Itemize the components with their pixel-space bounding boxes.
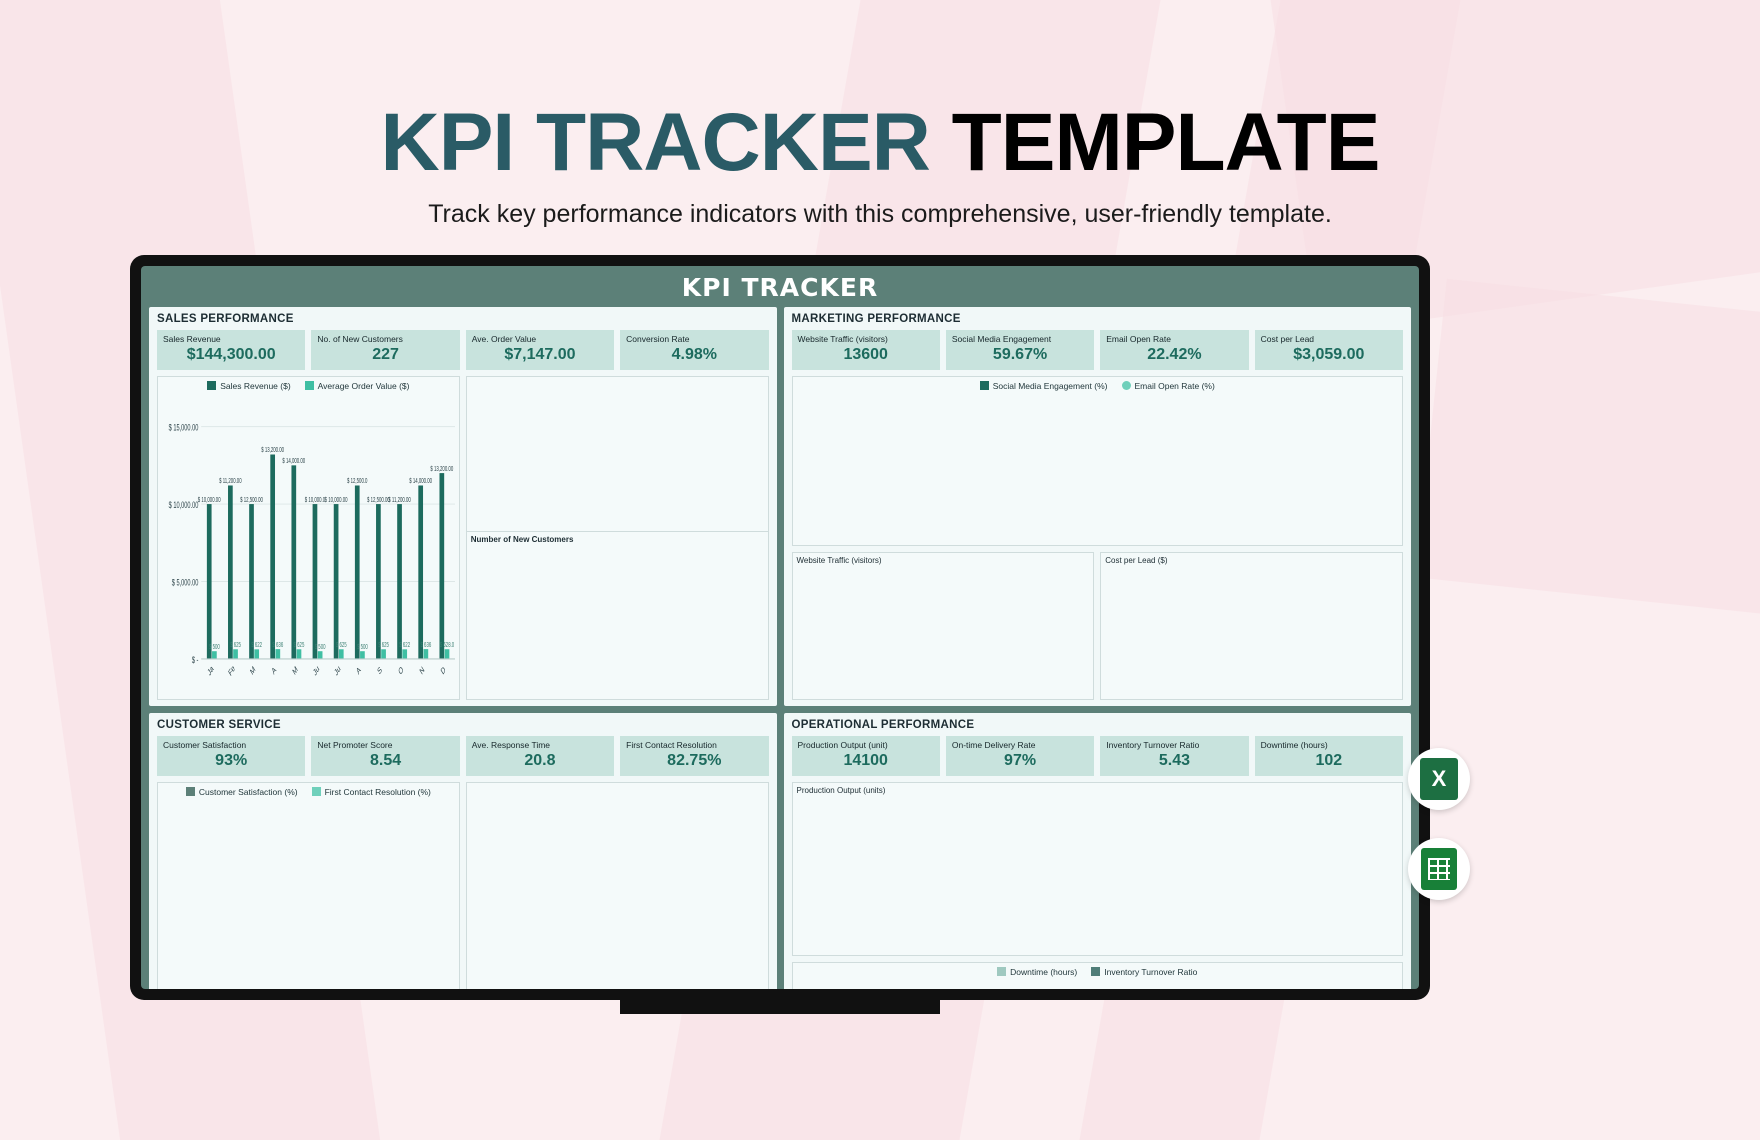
chart-title-new-customers: Number of New Customers xyxy=(467,531,768,544)
svg-text:$ 12,500.0: $ 12,500.0 xyxy=(347,478,368,485)
kpi-label: Production Output (unit) xyxy=(798,740,934,750)
chart-production-output[interactable]: Production Output (units) xyxy=(792,782,1404,956)
kpi-card-first-contact-resolution[interactable]: First Contact Resolution 82.75% xyxy=(620,736,768,776)
kpi-card-sales-revenue[interactable]: Sales Revenue $144,300.00 xyxy=(157,330,305,370)
kpi-label: Ave. Order Value xyxy=(472,334,608,344)
kpi-row-marketing: Website Traffic (visitors) 13600 Social … xyxy=(792,330,1404,370)
svg-text:A: A xyxy=(270,664,278,677)
svg-text:M: M xyxy=(291,664,299,677)
panel-title-operational: OPERATIONAL PERFORMANCE xyxy=(792,719,1404,731)
chart-canvas-new-customers xyxy=(467,544,768,698)
kpi-label: On-time Delivery Rate xyxy=(952,740,1088,750)
svg-text:$ 622: $ 622 xyxy=(251,642,262,649)
svg-text:Ja: Ja xyxy=(206,663,215,678)
legend-label: Downtime (hours) xyxy=(1010,967,1077,977)
panel-customer-service: CUSTOMER SERVICE Customer Satisfaction 9… xyxy=(149,713,777,989)
kpi-label: Net Promoter Score xyxy=(317,740,453,750)
panel-title-marketing: MARKETING PERFORMANCE xyxy=(792,313,1404,325)
charts-customer: Customer Satisfaction (%) First Contact … xyxy=(157,782,769,989)
legend-item-email: Email Open Rate (%) xyxy=(1122,381,1215,391)
kpi-label: Customer Satisfaction xyxy=(163,740,299,750)
chart-canvas xyxy=(158,799,459,989)
excel-badge[interactable]: X xyxy=(1408,748,1470,810)
svg-text:Ju: Ju xyxy=(333,663,342,678)
legend-label: Email Open Rate (%) xyxy=(1135,381,1215,391)
page-title-rest: TEMPLATE xyxy=(952,97,1380,188)
kpi-label: No. of New Customers xyxy=(317,334,453,344)
kpi-label: Sales Revenue xyxy=(163,334,299,344)
chart-conversion-donut[interactable]: Number of New Customers xyxy=(466,376,769,700)
svg-text:Fe: Fe xyxy=(227,663,236,678)
monitor-stand xyxy=(620,1000,940,1014)
svg-text:$ 13,200.00: $ 13,200.00 xyxy=(430,466,453,473)
kpi-card-new-customers[interactable]: No. of New Customers 227 xyxy=(311,330,459,370)
svg-text:O: O xyxy=(397,664,405,677)
kpi-label: Downtime (hours) xyxy=(1261,740,1397,750)
legend-item-fcr: First Contact Resolution (%) xyxy=(312,787,431,797)
chart-canvas: $ -$ 5,000.00$ 10,000.00$ 15,000.00$ 10,… xyxy=(158,393,459,699)
svg-text:$ 10,000.00: $ 10,000.00 xyxy=(169,499,199,510)
legend-swatch-icon xyxy=(1091,967,1100,976)
chart-canvas xyxy=(467,783,768,989)
kpi-row-customer: Customer Satisfaction 93% Net Promoter S… xyxy=(157,736,769,776)
svg-text:$ 10,000.0: $ 10,000.0 xyxy=(305,497,326,504)
svg-text:$ 625: $ 625 xyxy=(378,642,389,649)
svg-text:M: M xyxy=(249,664,257,677)
chart-sales-revenue-aov[interactable]: Sales Revenue ($) Average Order Value ($… xyxy=(157,376,460,700)
chart-title-production: Production Output (units) xyxy=(793,783,1403,795)
kpi-card-downtime[interactable]: Downtime (hours) 102 xyxy=(1255,736,1403,776)
kpi-value: 14100 xyxy=(798,752,934,770)
kpi-value: $7,147.00 xyxy=(472,346,608,364)
chart-canvas xyxy=(793,979,1403,989)
svg-text:$ 622: $ 622 xyxy=(399,642,410,649)
kpi-value: 20.8 xyxy=(472,752,608,770)
svg-text:$ 10,000.00: $ 10,000.00 xyxy=(325,497,348,504)
kpi-card-conversion-rate[interactable]: Conversion Rate 4.98% xyxy=(620,330,768,370)
svg-text:$ 636: $ 636 xyxy=(420,642,431,649)
svg-text:$ 14,000.00: $ 14,000.00 xyxy=(409,478,432,485)
dashboard-title: KPI TRACKER xyxy=(149,272,1411,307)
kpi-card-website-traffic[interactable]: Website Traffic (visitors) 13600 xyxy=(792,330,940,370)
chart-downtime-inventory[interactable]: Downtime (hours) Inventory Turnover Rati… xyxy=(792,962,1404,989)
svg-text:$ 500: $ 500 xyxy=(357,644,368,651)
svg-text:$ 12,500.00: $ 12,500.00 xyxy=(367,497,390,504)
svg-text:$ 11,200.00: $ 11,200.00 xyxy=(219,478,242,485)
legend-item-inventory: Inventory Turnover Ratio xyxy=(1091,967,1197,977)
svg-text:$ -: $ - xyxy=(192,654,199,665)
chart-canvas xyxy=(467,377,768,531)
panel-marketing-performance: MARKETING PERFORMANCE Website Traffic (v… xyxy=(784,307,1412,706)
dashboard-screen: KPI TRACKER SALES PERFORMANCE Sales Reve… xyxy=(141,266,1419,989)
charts-sales: Sales Revenue ($) Average Order Value ($… xyxy=(157,376,769,700)
chart-social-email-line[interactable]: Social Media Engagement (%) Email Open R… xyxy=(792,376,1404,546)
chart-canvas xyxy=(793,393,1403,545)
kpi-card-cost-per-lead[interactable]: Cost per Lead $3,059.00 xyxy=(1255,330,1403,370)
kpi-label: Email Open Rate xyxy=(1106,334,1242,344)
kpi-label: First Contact Resolution xyxy=(626,740,762,750)
page-subtitle: Track key performance indicators with th… xyxy=(0,200,1760,229)
chart-title-cost-per-lead: Cost per Lead ($) xyxy=(1101,553,1402,565)
svg-text:N: N xyxy=(418,664,426,676)
kpi-card-avg-response-time[interactable]: Ave. Response Time 20.8 xyxy=(466,736,614,776)
kpi-label: Cost per Lead xyxy=(1261,334,1397,344)
kpi-value: 102 xyxy=(1261,752,1397,770)
kpi-card-email-open-rate[interactable]: Email Open Rate 22.42% xyxy=(1100,330,1248,370)
kpi-label: Ave. Response Time xyxy=(472,740,608,750)
chart-canvas xyxy=(793,795,1403,955)
kpi-label: Social Media Engagement xyxy=(952,334,1088,344)
kpi-row-operational: Production Output (unit) 14100 On-time D… xyxy=(792,736,1404,776)
google-sheets-badge[interactable] xyxy=(1408,838,1470,900)
svg-text:$ 5,000.00: $ 5,000.00 xyxy=(172,577,199,588)
svg-text:$ 500: $ 500 xyxy=(315,644,326,651)
panel-sales-performance: SALES PERFORMANCE Sales Revenue $144,300… xyxy=(149,307,777,706)
kpi-value: $3,059.00 xyxy=(1261,346,1397,364)
chart-cost-per-lead[interactable]: Cost per Lead ($) xyxy=(1100,552,1403,700)
chart-website-traffic[interactable]: Website Traffic (visitors) xyxy=(792,552,1095,700)
svg-text:$ 636: $ 636 xyxy=(272,642,283,649)
legend-label: Sales Revenue ($) xyxy=(220,381,290,391)
svg-text:Ju: Ju xyxy=(312,663,321,678)
legend-swatch-icon xyxy=(207,381,216,390)
svg-text:$ 13,200.00: $ 13,200.00 xyxy=(261,447,284,454)
svg-text:$ 628.0: $ 628.0 xyxy=(440,642,455,649)
kpi-card-inventory-turnover[interactable]: Inventory Turnover Ratio 5.43 xyxy=(1100,736,1248,776)
legend-swatch-icon xyxy=(1122,381,1131,390)
kpi-label: Inventory Turnover Ratio xyxy=(1106,740,1242,750)
kpi-card-avg-order-value[interactable]: Ave. Order Value $7,147.00 xyxy=(466,330,614,370)
sheets-icon xyxy=(1421,848,1457,890)
kpi-card-ontime-delivery[interactable]: On-time Delivery Rate 97% xyxy=(946,736,1094,776)
page-title-accent: KPI TRACKER xyxy=(381,97,930,188)
excel-icon: X xyxy=(1420,758,1458,800)
legend-label: First Contact Resolution (%) xyxy=(325,787,431,797)
panel-operational-performance: OPERATIONAL PERFORMANCE Production Outpu… xyxy=(784,713,1412,989)
page-title: KPI TRACKER TEMPLATE xyxy=(0,96,1760,190)
chart-response-time-pie[interactable] xyxy=(466,782,769,989)
legend-label: Customer Satisfaction (%) xyxy=(199,787,298,797)
chart-legend: Social Media Engagement (%) Email Open R… xyxy=(793,377,1403,393)
legend-item-social: Social Media Engagement (%) xyxy=(980,381,1108,391)
kpi-value: 4.98% xyxy=(626,346,762,364)
legend-swatch-icon xyxy=(312,787,321,796)
svg-text:$ 12,500.00: $ 12,500.00 xyxy=(240,497,263,504)
svg-text:$ 625: $ 625 xyxy=(294,642,305,649)
legend-swatch-icon xyxy=(980,381,989,390)
svg-text:$ 11,200.00: $ 11,200.00 xyxy=(388,497,411,504)
svg-text:S: S xyxy=(376,665,383,677)
legend-item-satisfaction: Customer Satisfaction (%) xyxy=(186,787,298,797)
kpi-label: Website Traffic (visitors) xyxy=(798,334,934,344)
kpi-card-customer-satisfaction[interactable]: Customer Satisfaction 93% xyxy=(157,736,305,776)
legend-item-aov: Average Order Value ($) xyxy=(305,381,410,391)
kpi-value: 59.67% xyxy=(952,346,1088,364)
chart-legend: Customer Satisfaction (%) First Contact … xyxy=(158,783,459,799)
svg-text:$ 625: $ 625 xyxy=(230,642,241,649)
chart-legend: Downtime (hours) Inventory Turnover Rati… xyxy=(793,963,1403,979)
legend-label: Inventory Turnover Ratio xyxy=(1104,967,1197,977)
svg-text:D: D xyxy=(439,664,447,677)
kpi-value: 5.43 xyxy=(1106,752,1242,770)
panel-title-customer: CUSTOMER SERVICE xyxy=(157,719,769,731)
legend-swatch-icon xyxy=(997,967,1006,976)
svg-text:$ 625: $ 625 xyxy=(336,642,347,649)
kpi-value: 82.75% xyxy=(626,752,762,770)
kpi-card-production-output[interactable]: Production Output (unit) 14100 xyxy=(792,736,940,776)
chart-legend: Sales Revenue ($) Average Order Value ($… xyxy=(158,377,459,393)
kpi-value: 93% xyxy=(163,752,299,770)
legend-item-downtime: Downtime (hours) xyxy=(997,967,1077,977)
kpi-card-net-promoter-score[interactable]: Net Promoter Score 8.54 xyxy=(311,736,459,776)
kpi-label: Conversion Rate xyxy=(626,334,762,344)
kpi-value: 8.54 xyxy=(317,752,453,770)
legend-label: Average Order Value ($) xyxy=(318,381,410,391)
chart-canvas xyxy=(793,565,1094,699)
panel-title-sales: SALES PERFORMANCE xyxy=(157,313,769,325)
svg-text:A: A xyxy=(355,664,363,677)
legend-item-sales-revenue: Sales Revenue ($) xyxy=(207,381,290,391)
kpi-value: 13600 xyxy=(798,346,934,364)
svg-text:$ 10,000.00: $ 10,000.00 xyxy=(198,497,221,504)
kpi-value: 227 xyxy=(317,346,453,364)
legend-swatch-icon xyxy=(305,381,314,390)
charts-marketing-bottom: Website Traffic (visitors) Cost per Lead… xyxy=(792,552,1404,700)
kpi-value: 22.42% xyxy=(1106,346,1242,364)
svg-text:$ 500: $ 500 xyxy=(209,644,220,651)
svg-text:$ 15,000.00: $ 15,000.00 xyxy=(169,422,199,433)
kpi-card-social-engagement[interactable]: Social Media Engagement 59.67% xyxy=(946,330,1094,370)
kpi-value: $144,300.00 xyxy=(163,346,299,364)
chart-canvas xyxy=(1101,565,1402,699)
monitor-frame: KPI TRACKER SALES PERFORMANCE Sales Reve… xyxy=(130,255,1430,1000)
legend-swatch-icon xyxy=(186,787,195,796)
svg-text:$ 14,000.00: $ 14,000.00 xyxy=(282,458,305,465)
kpi-row-sales: Sales Revenue $144,300.00 No. of New Cus… xyxy=(157,330,769,370)
chart-satisfaction-fcr[interactable]: Customer Satisfaction (%) First Contact … xyxy=(157,782,460,989)
legend-label: Social Media Engagement (%) xyxy=(993,381,1108,391)
chart-title-website-traffic: Website Traffic (visitors) xyxy=(793,553,1094,565)
kpi-value: 97% xyxy=(952,752,1088,770)
dashboard-grid: SALES PERFORMANCE Sales Revenue $144,300… xyxy=(149,307,1411,989)
